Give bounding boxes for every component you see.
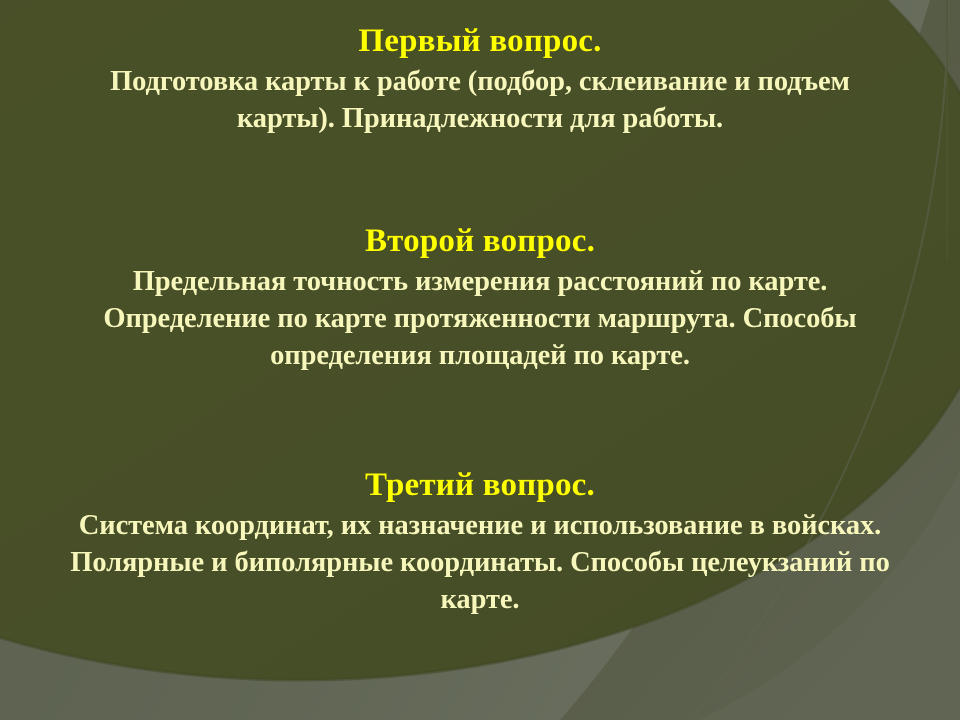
question-block-3: Третий вопрос. Система координат, их наз…: [14, 466, 946, 618]
question-3-body-line-2: Полярные и биполярные координаты. Способ…: [14, 544, 946, 581]
question-block-1: Первый вопрос. Подготовка карты к работе…: [14, 22, 946, 137]
question-1-title: Первый вопрос.: [14, 22, 946, 61]
slide-canvas: Первый вопрос. Подготовка карты к работе…: [0, 0, 960, 720]
question-block-2: Второй вопрос. Предельная точность измер…: [14, 222, 946, 374]
question-2-body: Предельная точность измерения расстояний…: [14, 263, 946, 374]
slide-content: Первый вопрос. Подготовка карты к работе…: [0, 0, 960, 720]
question-2-body-line-2: Определение по карте протяженности маршр…: [14, 300, 946, 337]
question-3-body-line-3: карте.: [14, 581, 946, 618]
question-3-body-line-1: Система координат, их назначение и испол…: [14, 507, 946, 544]
question-1-body-line-1: Подготовка карты к работе (подбор, склеи…: [14, 63, 946, 100]
question-2-body-line-3: определения площадей по карте.: [14, 337, 946, 374]
question-1-body-line-2: карты). Принадлежности для работы.: [14, 100, 946, 137]
question-3-body: Система координат, их назначение и испол…: [14, 507, 946, 618]
question-1-body: Подготовка карты к работе (подбор, склеи…: [14, 63, 946, 137]
question-3-title: Третий вопрос.: [14, 466, 946, 505]
question-2-body-line-1: Предельная точность измерения расстояний…: [14, 263, 946, 300]
question-2-title: Второй вопрос.: [14, 222, 946, 261]
